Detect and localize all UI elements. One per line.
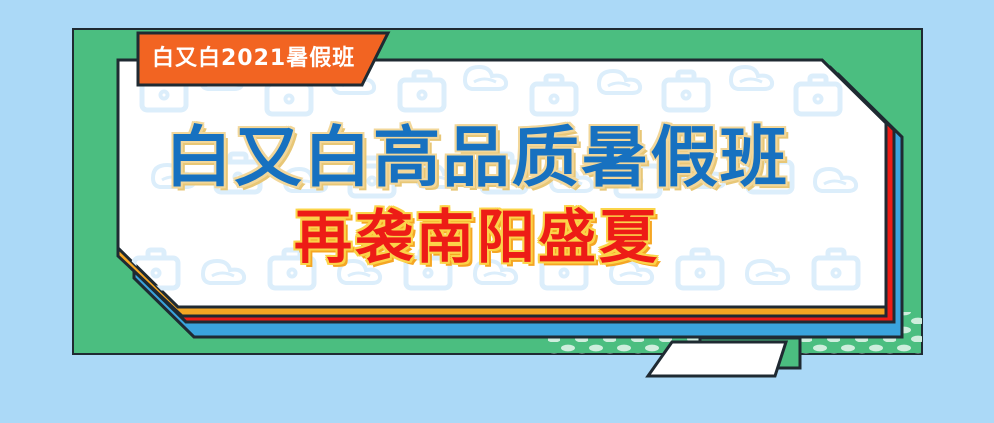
white-parallelogram-tab bbox=[648, 342, 786, 376]
banner-artwork bbox=[0, 0, 994, 423]
tag-ribbon-shape bbox=[138, 33, 388, 85]
promo-banner: 白又白2021暑假班 白又白高品质暑假班 再袭南阳盛夏 bbox=[0, 0, 994, 423]
